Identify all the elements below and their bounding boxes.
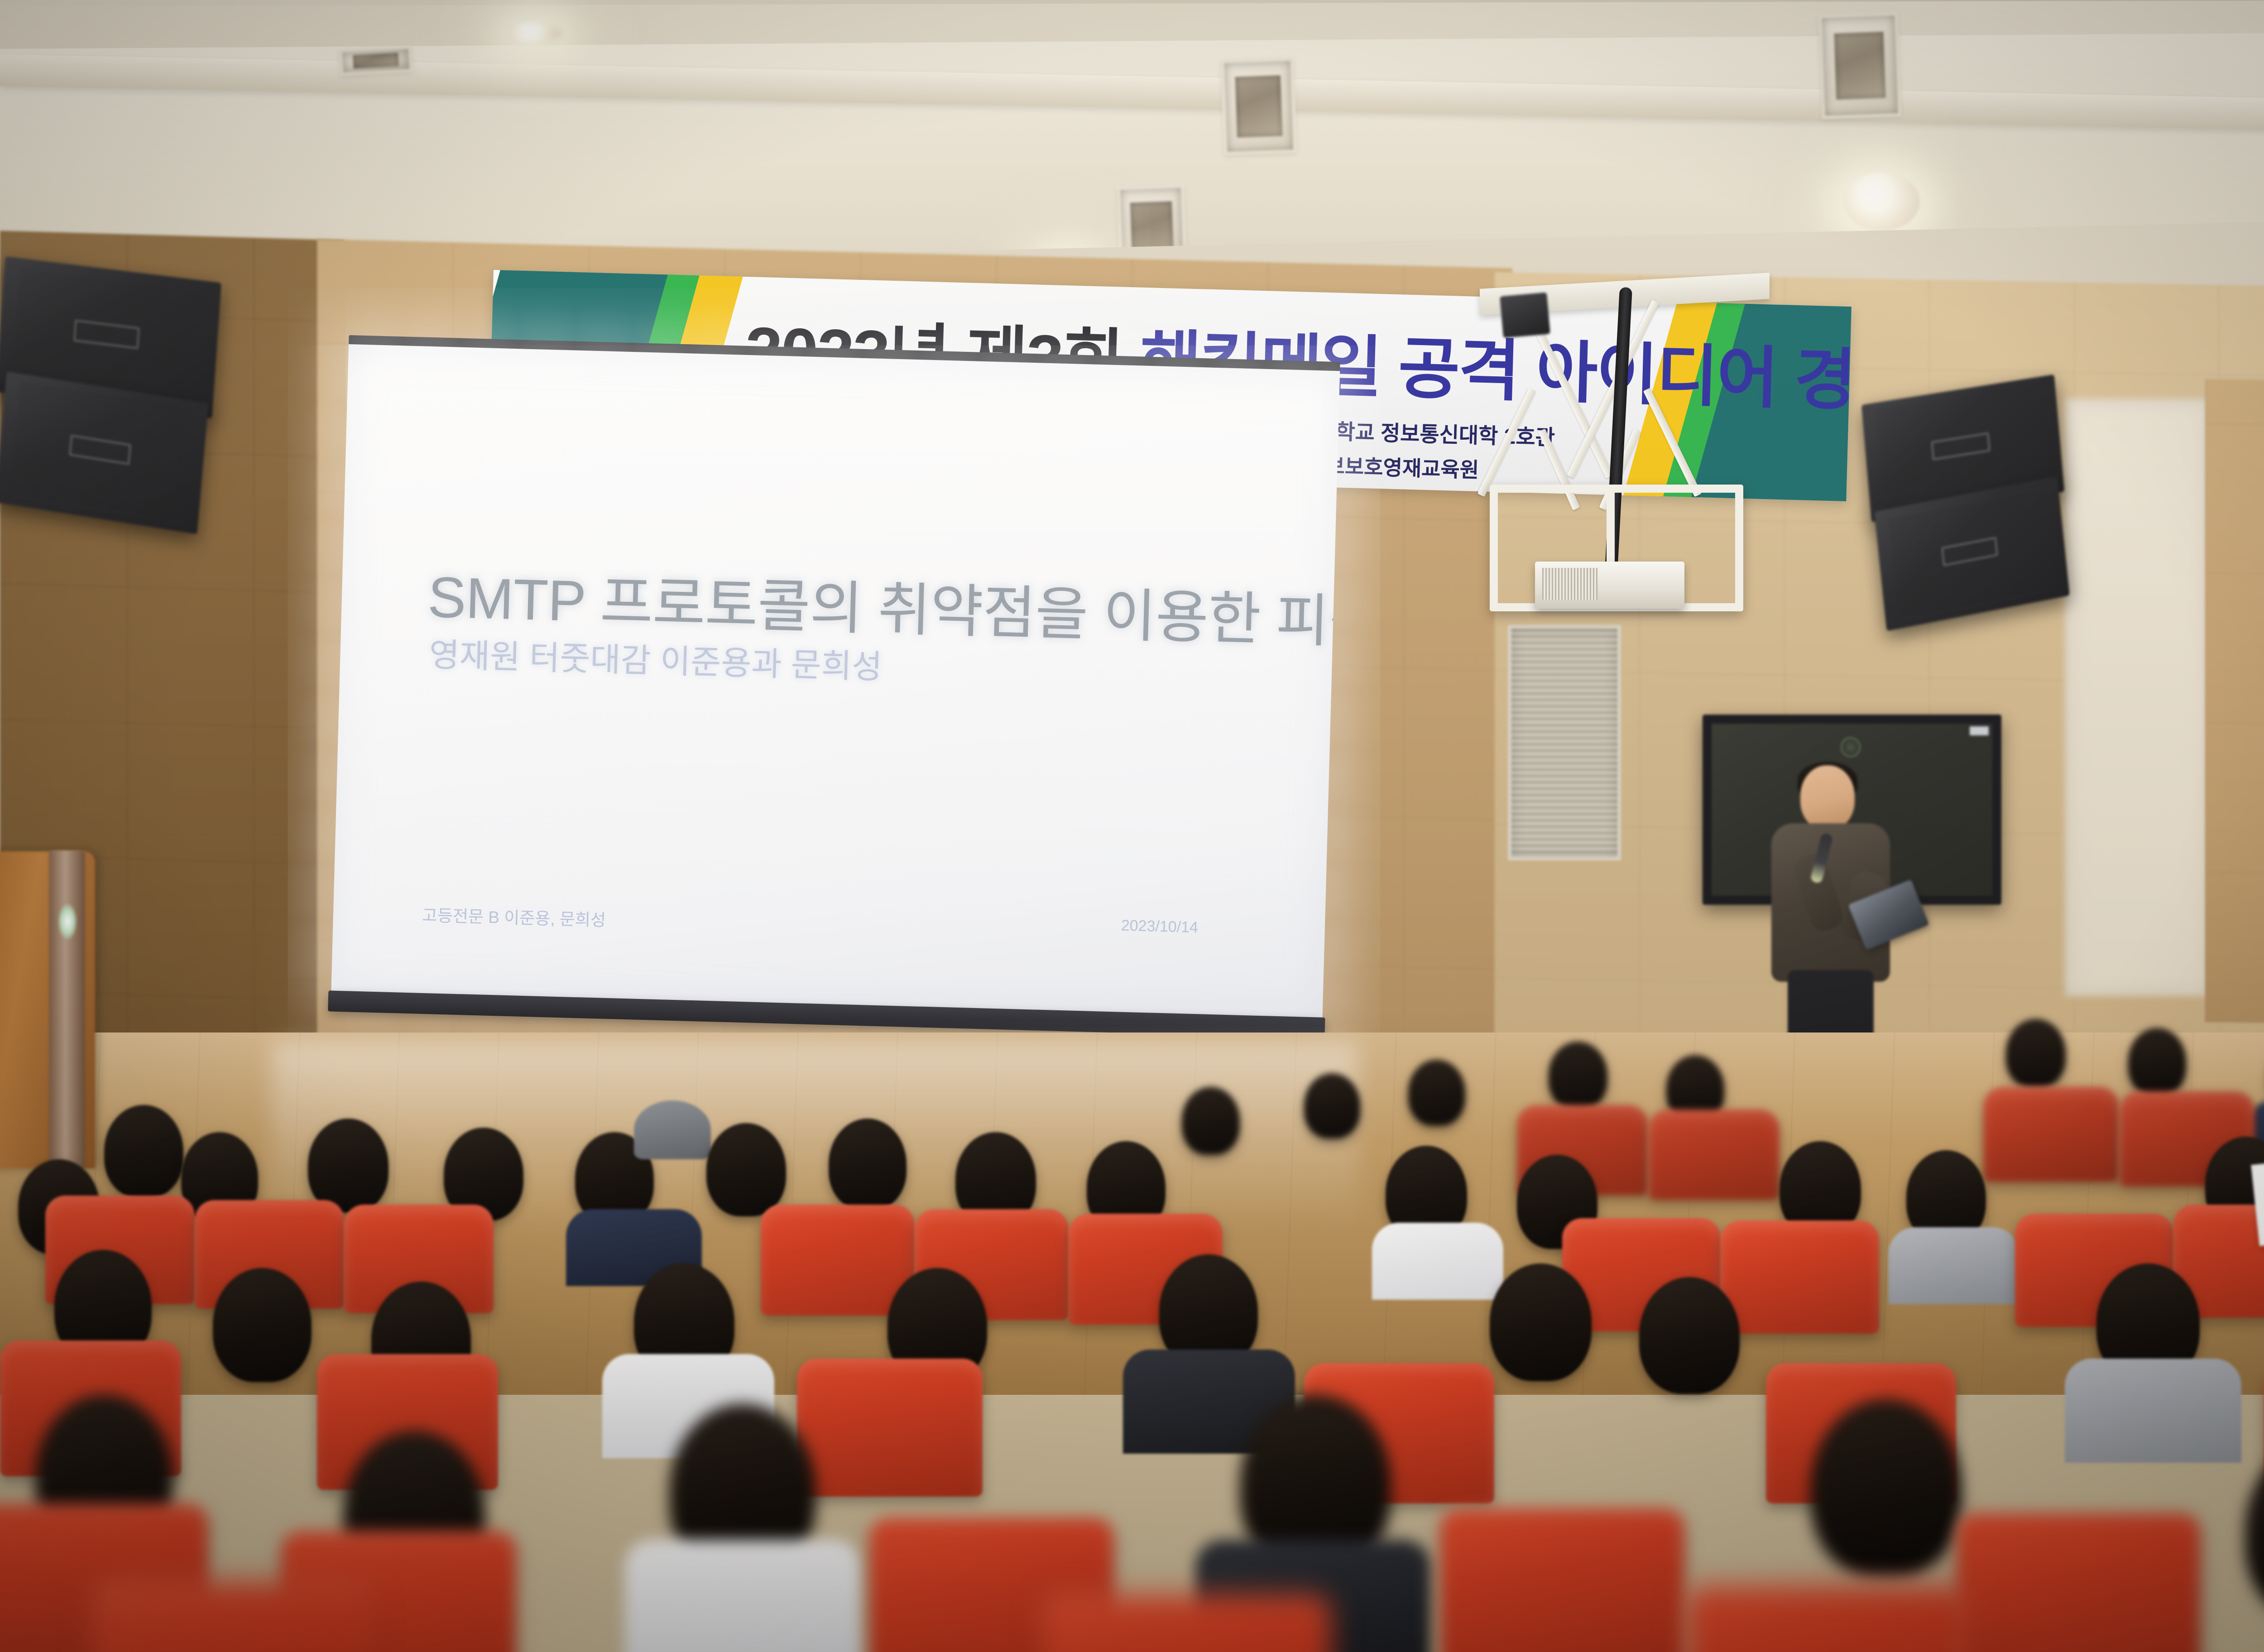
audience-head xyxy=(104,1105,183,1198)
ceiling-downlight-icon xyxy=(1843,172,1920,231)
audience-head xyxy=(1408,1060,1465,1126)
audience-head xyxy=(2246,1440,2264,1621)
projector-vent-grille xyxy=(1542,568,1597,600)
audience-shoulders xyxy=(1888,1227,2019,1304)
ceiling-vent-icon xyxy=(1221,58,1296,155)
ceiling-vent-icon xyxy=(339,46,413,76)
audience-head xyxy=(1549,1042,1607,1109)
monitor-badge xyxy=(1970,726,1989,735)
projector-body xyxy=(1535,562,1684,609)
seat[interactable] xyxy=(797,1359,983,1497)
podium-left-edge xyxy=(49,850,85,1167)
seat[interactable] xyxy=(1684,1585,1974,1652)
wall-panel-pale xyxy=(2065,399,2210,996)
air-conditioning-unit xyxy=(1508,625,1621,860)
auditorium-scene: 2023년 제3회 해킹메일 공격 아이디어 경진대회 ▸일시: 2023. 1… xyxy=(0,0,2264,1652)
seat[interactable] xyxy=(1440,1508,1684,1652)
seat[interactable] xyxy=(761,1205,915,1316)
audience-head xyxy=(706,1123,786,1216)
audience-head xyxy=(308,1119,389,1213)
audience-shoulders xyxy=(2065,1359,2241,1463)
audience-head xyxy=(1182,1087,1240,1155)
slide-footer-date: 2023/10/14 xyxy=(1121,917,1198,937)
lift-camera-module-icon xyxy=(1500,293,1550,338)
seat[interactable] xyxy=(1983,1087,2119,1182)
audience-head xyxy=(2128,1028,2186,1096)
scissor-arm xyxy=(1477,388,1536,497)
audience-head xyxy=(1811,1399,1961,1576)
audience-head xyxy=(829,1119,907,1210)
seat[interactable] xyxy=(1648,1109,1780,1200)
audience-shoulders xyxy=(625,1540,860,1652)
seat[interactable] xyxy=(91,1580,371,1652)
projection-screen: SMTP 프로토콜의 취약점을 이용한 피싱 영재원 터줏대감 이준용과 문희성… xyxy=(330,344,1340,1050)
ceiling-vent-icon xyxy=(1818,12,1901,119)
audience-head xyxy=(1304,1073,1360,1138)
audience-head xyxy=(1639,1277,1740,1394)
seat[interactable] xyxy=(1956,1513,2201,1652)
audience-shoulders xyxy=(1372,1223,1503,1300)
scissor-arm xyxy=(1643,388,1702,497)
seat[interactable] xyxy=(1041,1594,1331,1652)
podium-left-indicator xyxy=(58,903,77,940)
ceiling-downlight-icon xyxy=(507,23,561,43)
slide-footer-left: 고등전문 B 이준용, 문희성 xyxy=(422,902,606,931)
presenter-head xyxy=(1800,765,1855,830)
ceiling-projector-lift xyxy=(1453,281,1788,643)
audience-head xyxy=(1490,1263,1592,1381)
audience-cap-icon xyxy=(634,1100,711,1159)
wood-wall-far-right xyxy=(2205,379,2264,1025)
slide-surface: SMTP 프로토콜의 취약점을 이용한 피싱 영재원 터줏대감 이준용과 문희성… xyxy=(331,344,1340,1018)
audience-head xyxy=(213,1268,312,1382)
audience-head xyxy=(2006,1019,2066,1088)
seat[interactable] xyxy=(1721,1220,1879,1334)
